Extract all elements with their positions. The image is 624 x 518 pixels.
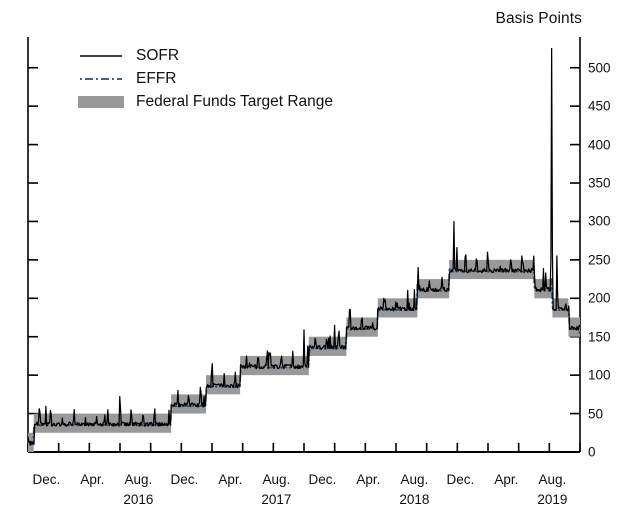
chart-figure: Basis Points SOFR EFFR Federal Funds Tar… (0, 0, 624, 518)
legend-key-dash-dot-line (78, 71, 124, 87)
legend-item-target-range: Federal Funds Target Range (78, 90, 408, 113)
chart-legend: SOFR EFFR Federal Funds Target Range (78, 44, 408, 113)
legend-label-target-range: Federal Funds Target Range (136, 94, 333, 110)
legend-item-sofr: SOFR (78, 44, 408, 67)
legend-key-filled-band (78, 94, 124, 110)
legend-label-effr: EFFR (136, 71, 176, 87)
y-axis-title: Basis Points (496, 10, 583, 28)
legend-label-sofr: SOFR (136, 48, 179, 64)
legend-key-solid-line (78, 48, 124, 64)
legend-item-effr: EFFR (78, 67, 408, 90)
